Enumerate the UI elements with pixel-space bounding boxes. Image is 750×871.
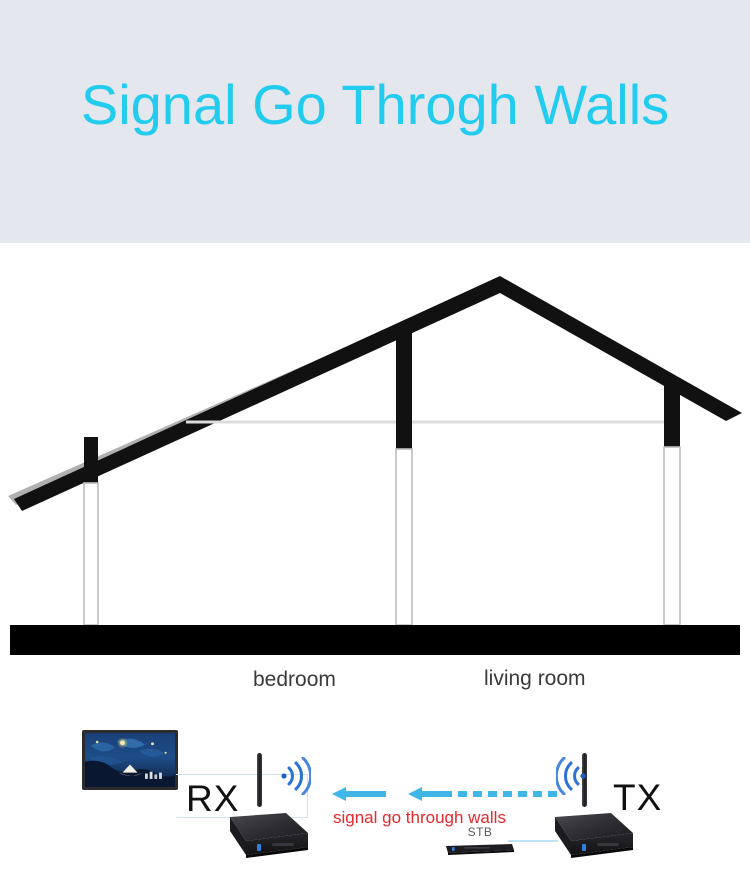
wall-center-upper xyxy=(396,333,412,451)
roof-shadow xyxy=(8,279,736,505)
signal-caption: signal go through walls xyxy=(333,808,506,828)
wall-center-column xyxy=(396,449,412,625)
wall-right-upper xyxy=(664,383,680,449)
receiver-led xyxy=(257,844,261,851)
transmitter-device-svg xyxy=(525,799,637,871)
floor-slab xyxy=(10,625,740,655)
antenna xyxy=(257,753,262,807)
wall-left-upper xyxy=(84,437,98,483)
wall-left-column xyxy=(84,483,98,625)
room-label-living-room: living room xyxy=(484,667,586,691)
set-top-box-group: STB xyxy=(437,825,523,861)
set-top-box-device xyxy=(444,842,516,855)
receiver-wifi-waves-icon xyxy=(277,757,311,795)
signal-walls-infographic: Signal Go Throgh Walls bedroom livin xyxy=(0,0,750,750)
roof-outline xyxy=(14,276,742,511)
tv-screen-artwork xyxy=(85,733,175,787)
transmitter-led xyxy=(582,844,586,851)
page-title: Signal Go Throgh Walls xyxy=(0,72,750,137)
wall-right-column xyxy=(664,447,680,625)
room-label-bedroom: bedroom xyxy=(253,668,336,692)
header-banner: Signal Go Throgh Walls xyxy=(0,0,750,243)
house-cutaway-illustration: bedroom living room xyxy=(0,243,750,750)
tv xyxy=(82,730,178,790)
house-structure-svg xyxy=(0,243,750,750)
receiver-device xyxy=(200,799,312,871)
signal-direction-arrows xyxy=(330,783,565,805)
receiver-device-svg xyxy=(200,799,312,871)
transmitter-device xyxy=(525,799,637,871)
stb-transmitter-link xyxy=(508,840,558,842)
